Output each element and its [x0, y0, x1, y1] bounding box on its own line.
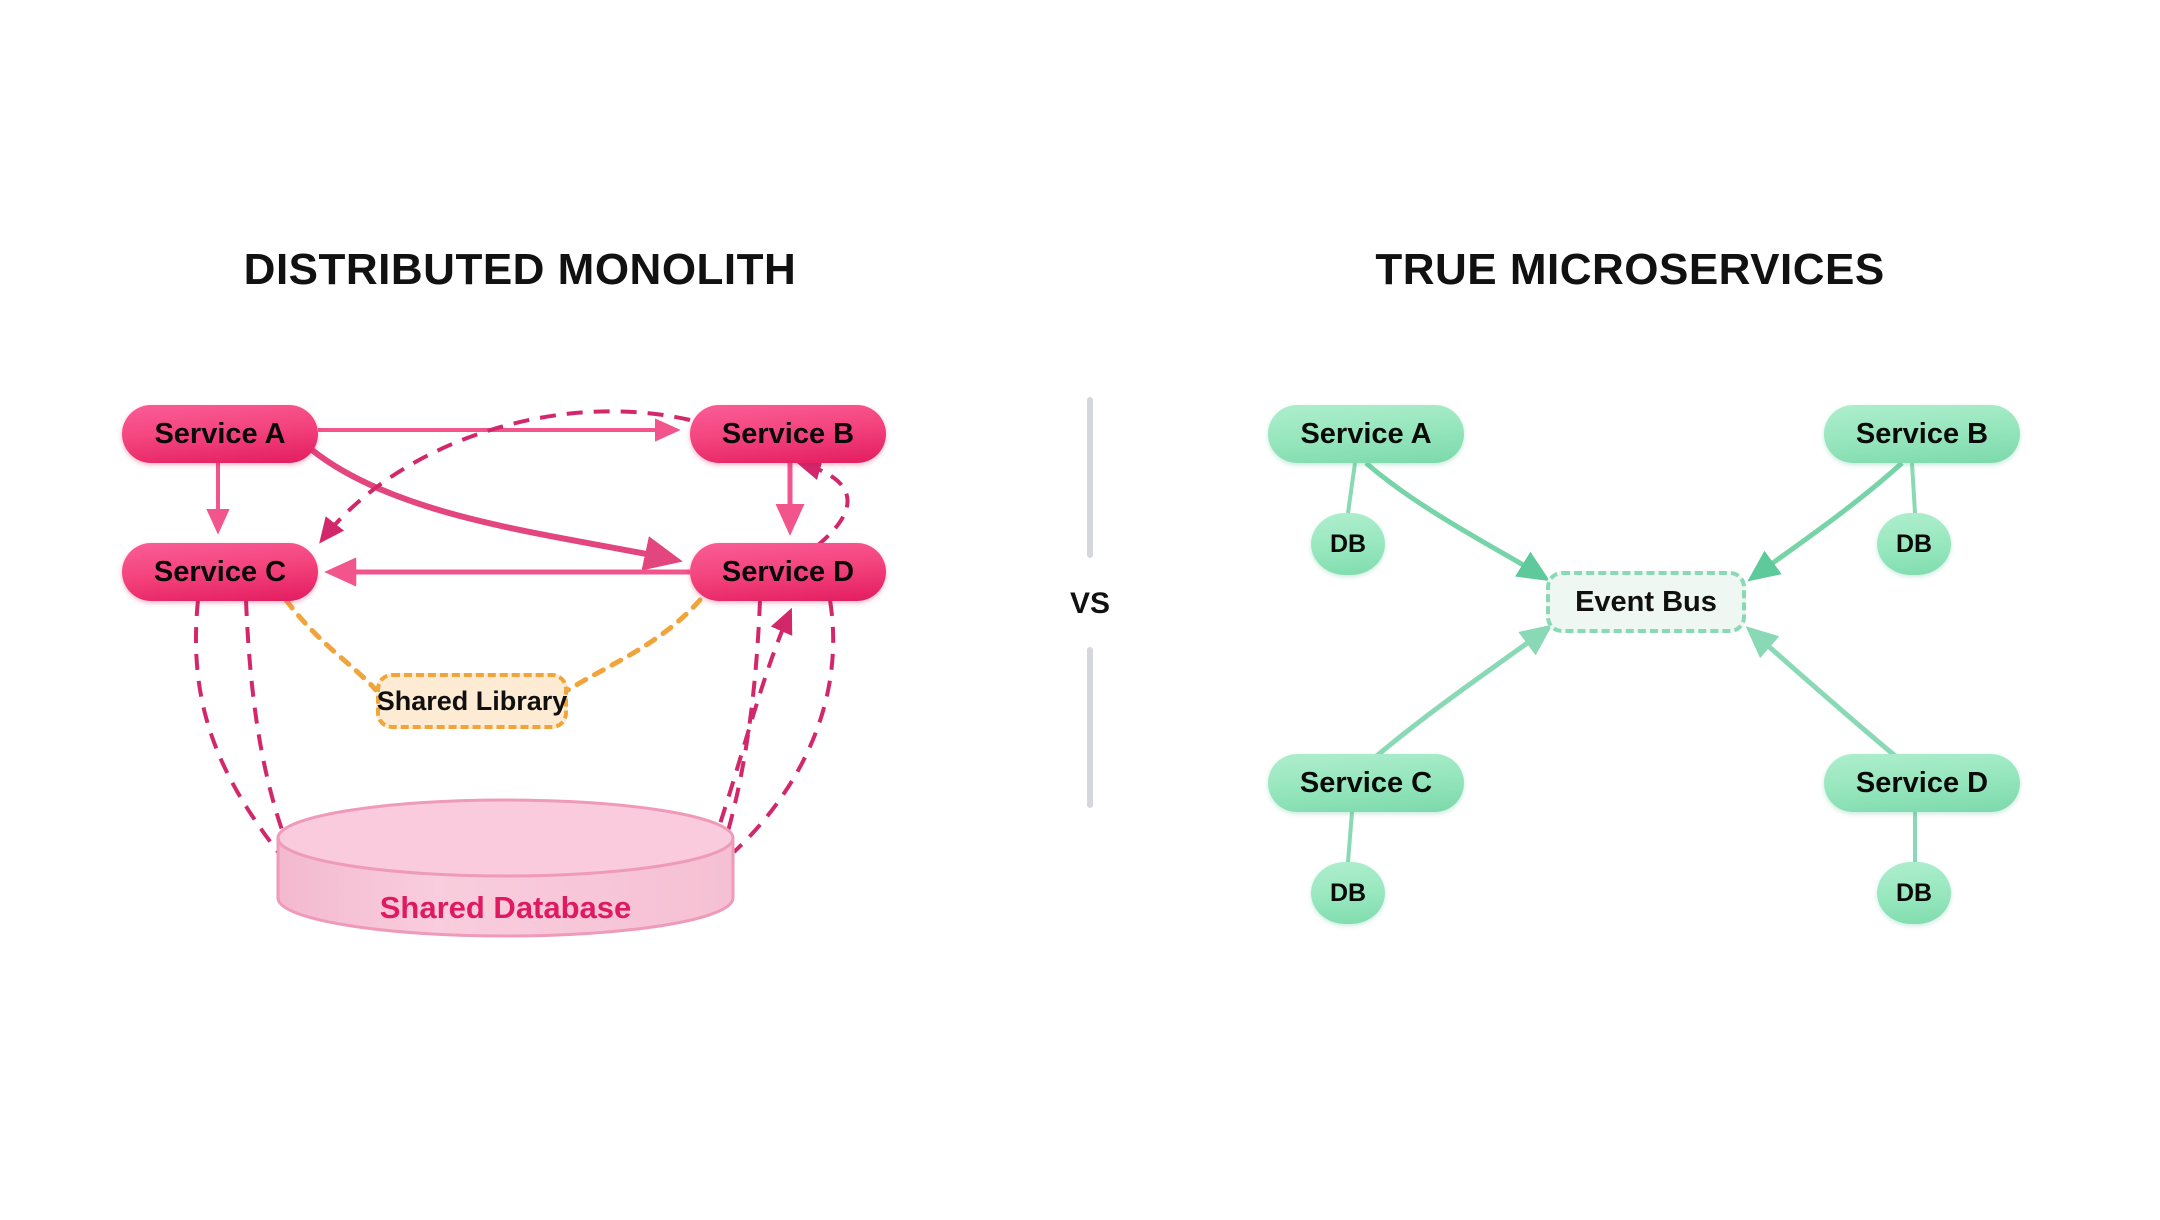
edge-c-to-db-dashed — [196, 600, 278, 852]
edge-c-to-event-bus — [1372, 628, 1548, 760]
monolith-service-a-label: Service A — [154, 418, 285, 451]
micro-service-b-db[interactable]: DB — [1877, 513, 1951, 575]
micro-service-a-db-label: DB — [1330, 530, 1366, 559]
micro-service-b[interactable]: Service B — [1824, 405, 2020, 463]
vs-label: VS — [1040, 587, 1140, 621]
edge-c-to-library — [286, 600, 376, 690]
micro-service-d-db-label: DB — [1896, 879, 1932, 908]
monolith-edges — [196, 411, 848, 852]
left-panel-title: DISTRIBUTED MONOLITH — [0, 245, 1040, 295]
edge-a-to-event-bus — [1366, 463, 1545, 578]
monolith-service-c[interactable]: Service C — [122, 543, 318, 601]
micro-service-b-label: Service B — [1856, 418, 1988, 451]
micro-service-c-db[interactable]: DB — [1311, 862, 1385, 924]
monolith-service-a[interactable]: Service A — [122, 405, 318, 463]
edge-d-to-b-dashed — [800, 463, 848, 545]
edge-b-to-own-db — [1912, 463, 1915, 513]
monolith-service-b-label: Service B — [722, 418, 854, 451]
monolith-service-d-label: Service D — [722, 556, 854, 589]
edge-c-to-own-db — [1348, 812, 1352, 862]
edge-b-to-db-dashed — [734, 600, 833, 852]
micro-service-d-db[interactable]: DB — [1877, 862, 1951, 924]
micro-service-a-label: Service A — [1300, 418, 1431, 451]
micro-service-d-label: Service D — [1856, 767, 1988, 800]
edge-d-to-event-bus — [1750, 630, 1900, 760]
micro-service-c-label: Service C — [1300, 767, 1432, 800]
shared-library-node[interactable]: Shared Library — [376, 673, 568, 729]
micro-service-b-db-label: DB — [1896, 530, 1932, 559]
monolith-service-d[interactable]: Service D — [690, 543, 886, 601]
edge-d-to-library — [568, 600, 700, 690]
edge-a-to-d — [312, 450, 676, 560]
right-panel-title: TRUE MICROSERVICES — [1110, 245, 2150, 295]
micro-service-a-db[interactable]: DB — [1311, 513, 1385, 575]
micro-service-c[interactable]: Service C — [1268, 754, 1464, 812]
shared-database-label: Shared Database — [278, 890, 733, 926]
event-bus-label: Event Bus — [1575, 586, 1717, 619]
monolith-service-c-label: Service C — [154, 556, 286, 589]
micro-service-d[interactable]: Service D — [1824, 754, 2020, 812]
event-bus-node[interactable]: Event Bus — [1546, 571, 1746, 633]
edge-db-to-d-dashed — [712, 612, 790, 848]
edge-b-to-event-bus — [1752, 463, 1902, 578]
monolith-service-b[interactable]: Service B — [690, 405, 886, 463]
shared-library-label: Shared Library — [377, 686, 568, 717]
micro-service-a[interactable]: Service A — [1268, 405, 1464, 463]
edge-d-to-db-dashed — [722, 600, 760, 852]
micro-service-c-db-label: DB — [1330, 879, 1366, 908]
edge-a-to-own-db — [1348, 463, 1355, 513]
